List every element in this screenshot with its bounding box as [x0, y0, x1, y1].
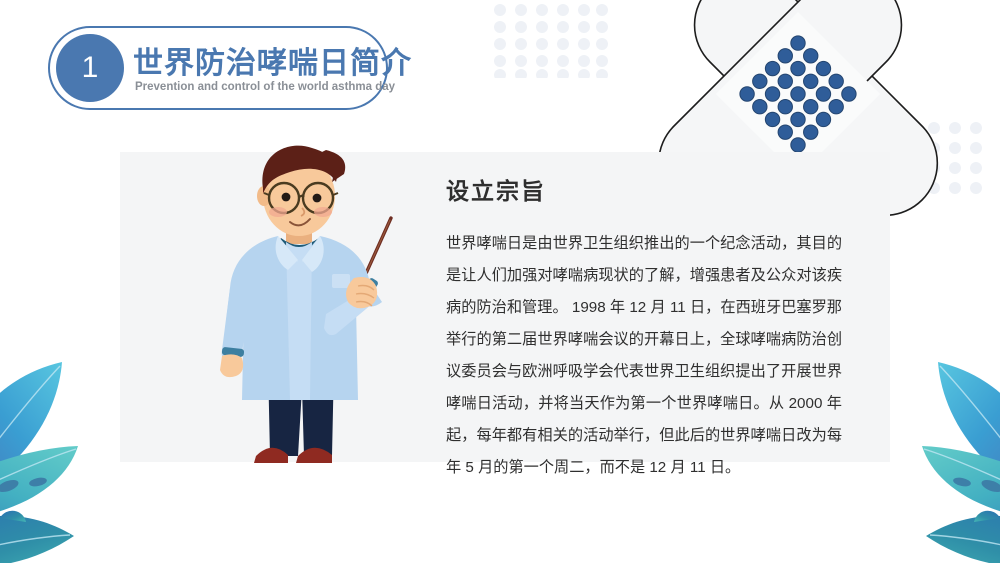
slide-canvas: 1 世界防治哮喘日简介 Prevention and control of th… [0, 0, 1000, 563]
dot-grid-bandage-side [898, 128, 968, 198]
badge-number: 1 [56, 34, 124, 102]
section-heading: 设立宗旨 [446, 172, 546, 206]
title-badge[interactable]: 1 世界防治哮喘日简介 Prevention and control of th… [48, 26, 388, 110]
page-title: 世界防治哮喘日简介 [133, 38, 412, 82]
page-subtitle: Prevention and control of the world asth… [135, 81, 395, 93]
section-body-text: 世界哮喘日是由世界卫生组织推出的一个纪念活动，其目的是让人们加强对哮喘病现状的了… [446, 228, 842, 484]
dot-grid-right [905, 120, 985, 200]
dot-grid-top-center [492, 2, 610, 78]
